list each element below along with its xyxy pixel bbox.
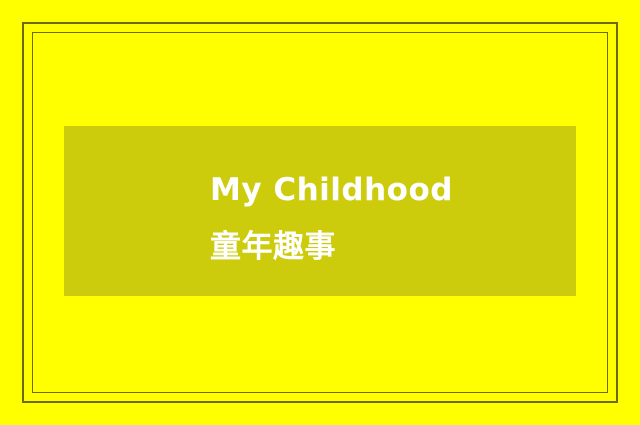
title-plate: My Childhood 童年趣事 [64,126,576,296]
title-card-canvas: My Childhood 童年趣事 [0,0,640,425]
page-title: My Childhood 童年趣事 [210,162,470,276]
